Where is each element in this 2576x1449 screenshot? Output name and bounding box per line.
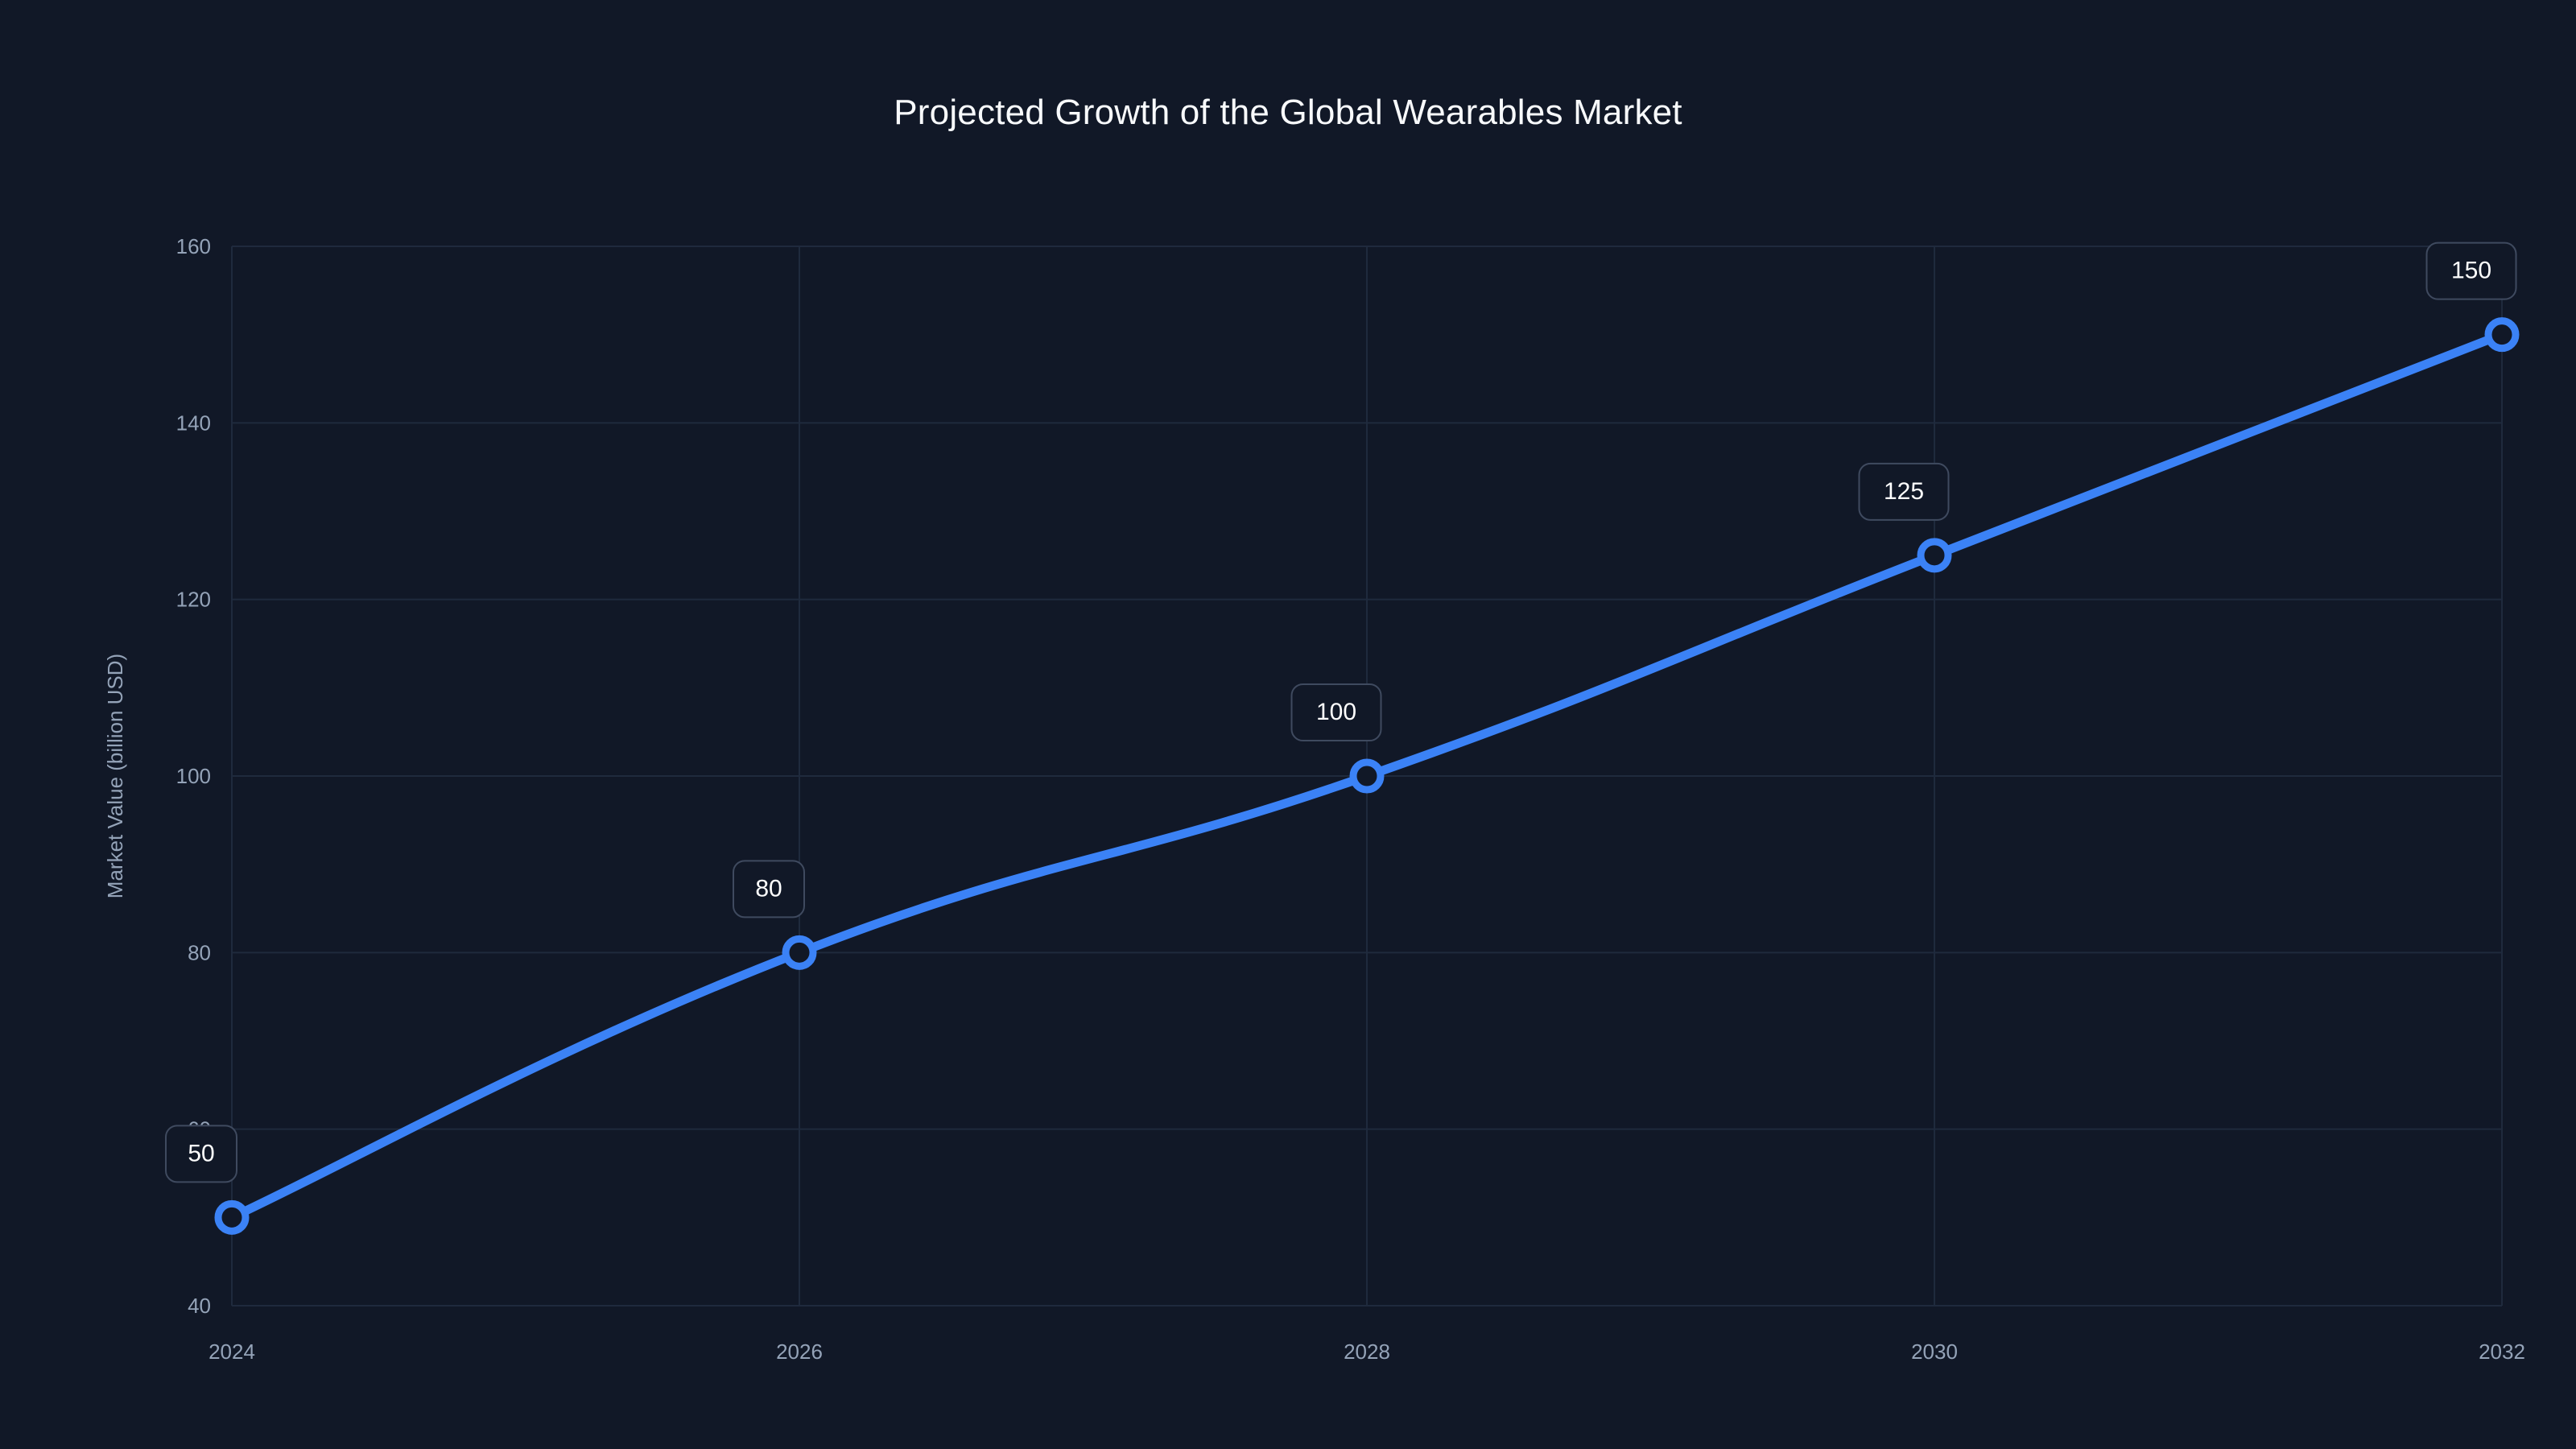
line-chart-plot: 406080100120140160 20242026202820302032 …: [0, 0, 2576, 1449]
y-tick-140: 140: [176, 411, 211, 435]
y-tick-40: 40: [188, 1294, 211, 1318]
data-point-2032[interactable]: [2488, 321, 2516, 349]
x-tick-2024: 2024: [208, 1340, 255, 1364]
data-label-2026: 80: [733, 861, 804, 917]
data-label-text: 125: [1884, 478, 1924, 505]
data-label-text: 50: [188, 1140, 214, 1166]
data-label-2024: 50: [166, 1125, 237, 1182]
y-tick-100: 100: [176, 764, 211, 788]
x-tick-2032: 2032: [2479, 1340, 2525, 1364]
data-label-2028: 100: [1292, 684, 1381, 741]
x-tick-2026: 2026: [776, 1340, 823, 1364]
y-tick-120: 120: [176, 588, 211, 612]
data-label-2032: 150: [2427, 243, 2516, 299]
x-tick-2028: 2028: [1344, 1340, 1390, 1364]
x-axis-tick-labels: 20242026202820302032: [208, 1340, 2525, 1364]
data-point-2030[interactable]: [1921, 542, 1948, 569]
data-point-2024[interactable]: [218, 1203, 246, 1231]
y-axis-title: Market Value (billion USD): [103, 654, 127, 898]
y-tick-80: 80: [188, 940, 211, 964]
chart-canvas: Projected Growth of the Global Wearables…: [0, 0, 2576, 1449]
data-point-labels: 5080100125150: [166, 243, 2516, 1183]
x-tick-2030: 2030: [1911, 1340, 1958, 1364]
data-label-text: 100: [1316, 699, 1356, 725]
data-point-2026[interactable]: [786, 939, 813, 966]
data-label-text: 150: [2451, 258, 2491, 284]
y-tick-160: 160: [176, 234, 211, 258]
data-label-text: 80: [755, 875, 782, 902]
data-label-2030: 125: [1860, 464, 1949, 520]
data-point-2028[interactable]: [1353, 762, 1381, 790]
